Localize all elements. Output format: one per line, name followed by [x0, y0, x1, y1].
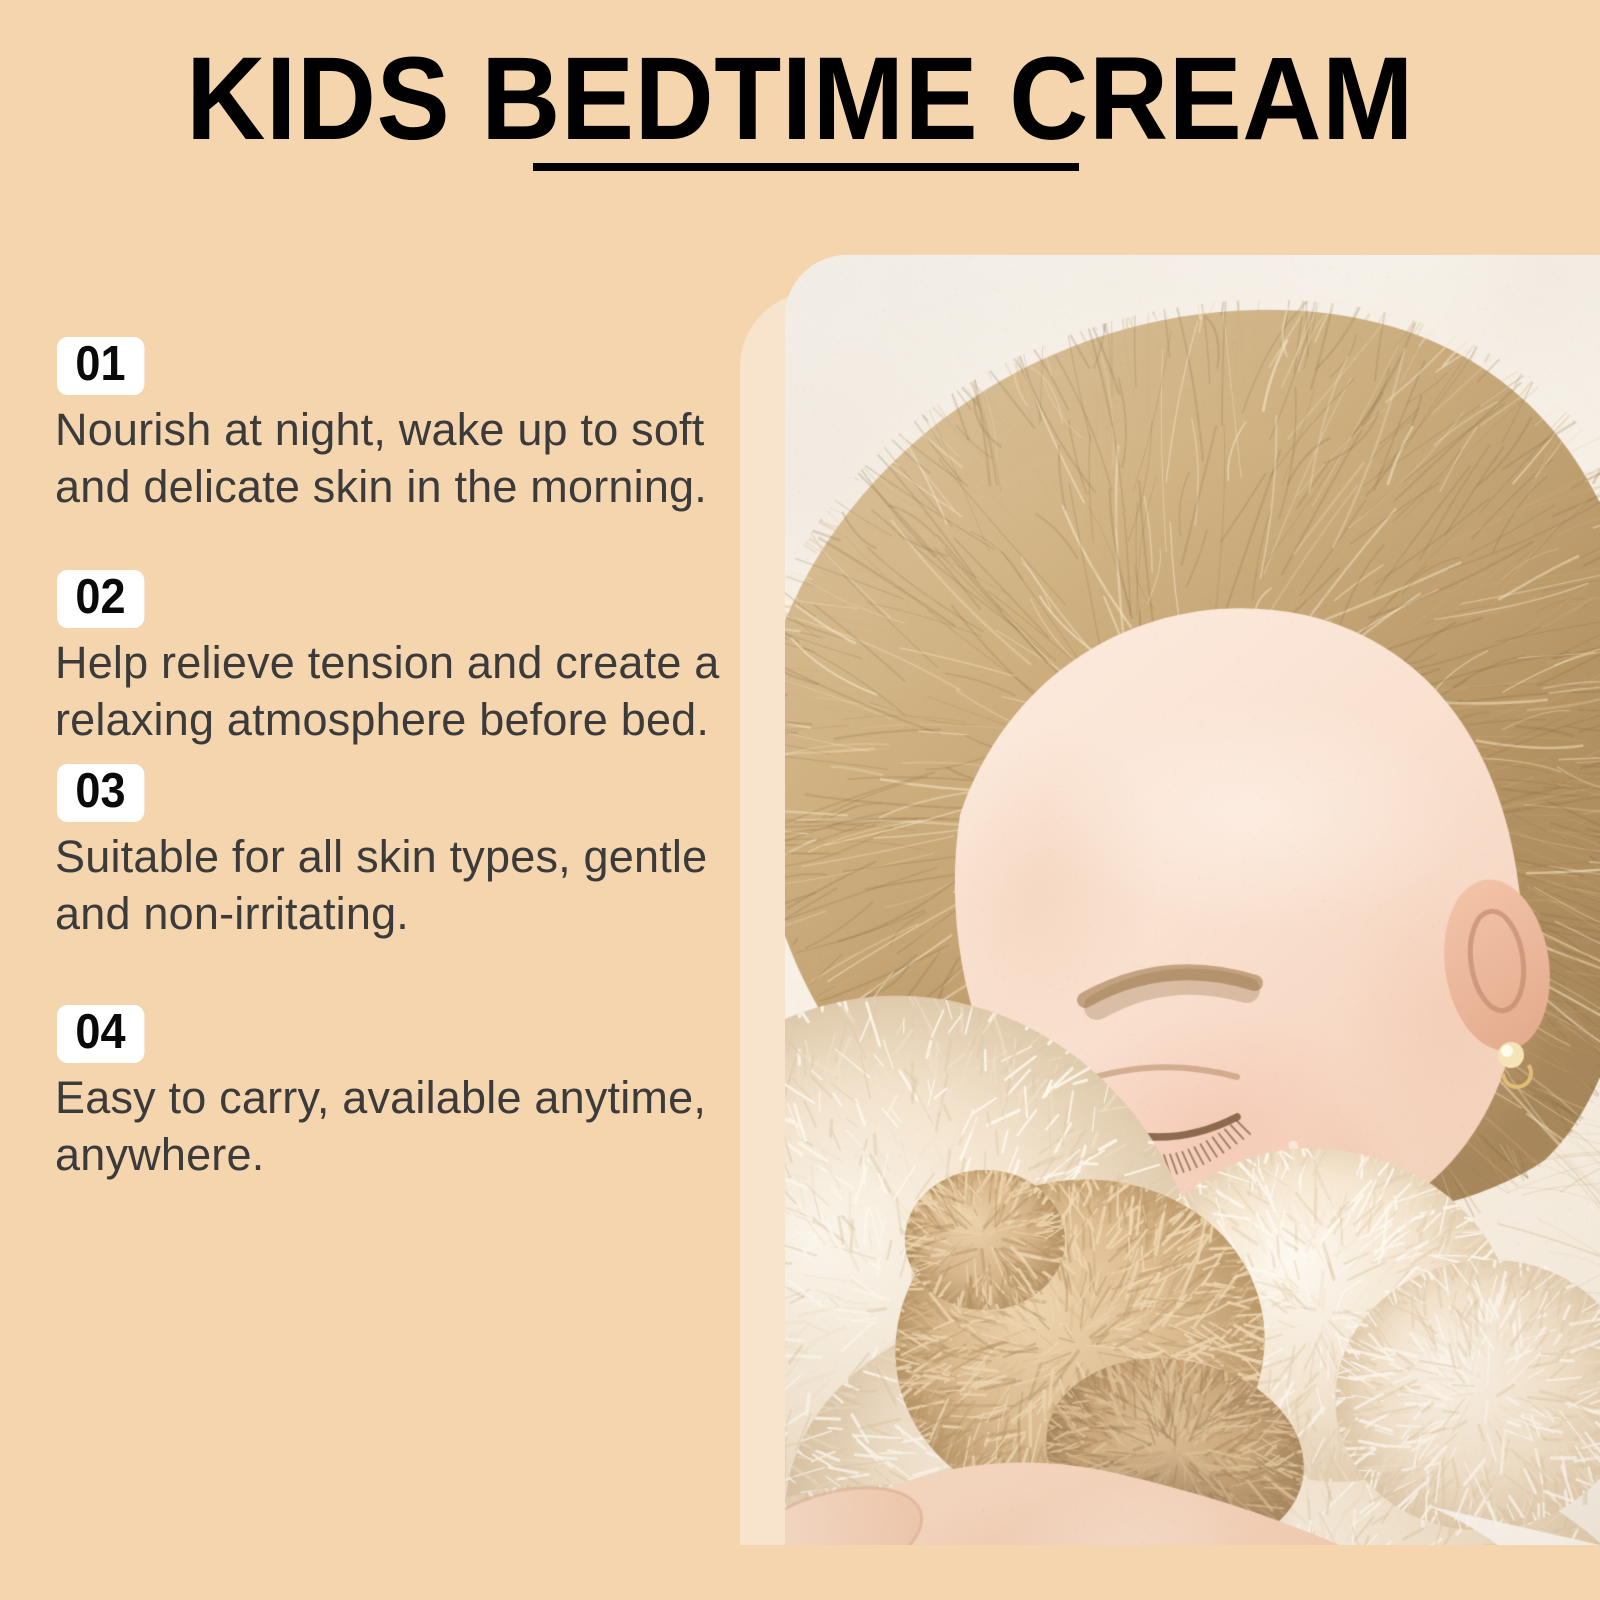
page-title: KIDS BEDTIME CREAM	[56, 40, 1544, 158]
feature-number-badge-04: 04	[57, 1005, 144, 1063]
title-block: KIDS BEDTIME CREAM	[0, 40, 1600, 158]
feature-number-badge-01: 01	[57, 337, 144, 395]
feature-text-01: Nourish at night, wake up to soft and de…	[55, 401, 720, 515]
feature-text-03: Suitable for all skin types, gentle and …	[55, 828, 720, 942]
feature-item-02: 02 Help relieve tension and create a rel…	[55, 570, 720, 748]
feature-item-04: 04 Easy to carry, available anytime, any…	[55, 1005, 720, 1183]
feature-number-badge-03: 03	[57, 764, 144, 822]
feature-number-badge-02: 02	[57, 570, 144, 628]
feature-item-03: 03 Suitable for all skin types, gentle a…	[55, 764, 720, 942]
product-feature-poster: KIDS BEDTIME CREAM 01 Nourish at night, …	[0, 0, 1600, 1600]
product-photo-frame	[785, 255, 1600, 1545]
title-underline-rule	[533, 163, 1079, 171]
feature-text-04: Easy to carry, available anytime, anywhe…	[55, 1069, 720, 1183]
feature-list: 01 Nourish at night, wake up to soft and…	[55, 337, 720, 1183]
sleeping-child-photo	[785, 255, 1600, 1545]
feature-text-02: Help relieve tension and create a relaxi…	[55, 634, 720, 748]
feature-item-01: 01 Nourish at night, wake up to soft and…	[55, 337, 720, 515]
